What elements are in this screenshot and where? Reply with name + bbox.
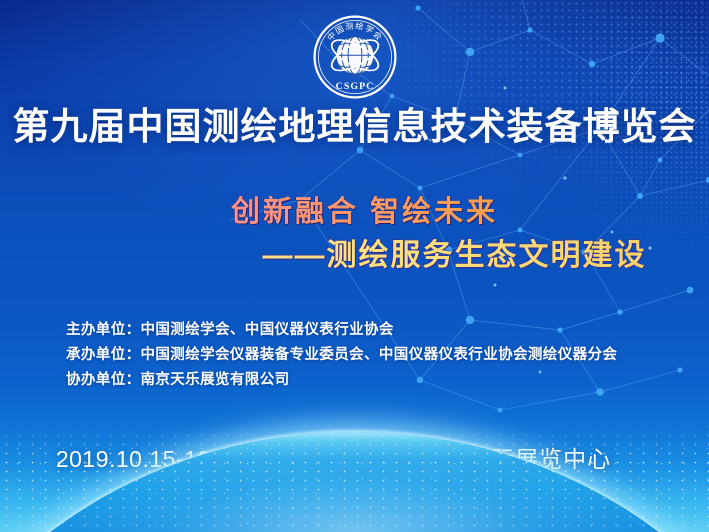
- organizer-list: 主办单位：中国测绘学会、中国仪器仪表行业协会 承办单位：中国测绘学会仪器装备专业…: [66, 318, 617, 393]
- organizer-host: 主办单位：中国测绘学会、中国仪器仪表行业协会: [66, 318, 617, 343]
- csgpc-emblem-logo: 中国测绘学会 CSGPC: [312, 14, 398, 100]
- slogan-line-2: ——测绘服务生态文明建设: [0, 239, 709, 274]
- logo-acronym: CSGPC: [335, 81, 374, 92]
- organizer-undertaker: 承办单位：中国测绘学会仪器装备专业委员会、中国仪器仪表行业协会测绘仪器分会: [66, 343, 617, 368]
- slogan-block: 创新融合 智绘未来 ——测绘服务生态文明建设: [0, 196, 709, 274]
- organizer-coorganizer: 协办单位：南京天乐展览有限公司: [66, 368, 617, 393]
- poster-title: 第九届中国测绘地理信息技术装备博览会: [0, 108, 709, 145]
- exhibition-poster: 中国测绘学会 CSGPC 第九届中国测绘地理信息技术装备博览会 创新融合 智绘未…: [0, 0, 709, 532]
- slogan-line-1: 创新融合 智绘未来: [0, 196, 709, 229]
